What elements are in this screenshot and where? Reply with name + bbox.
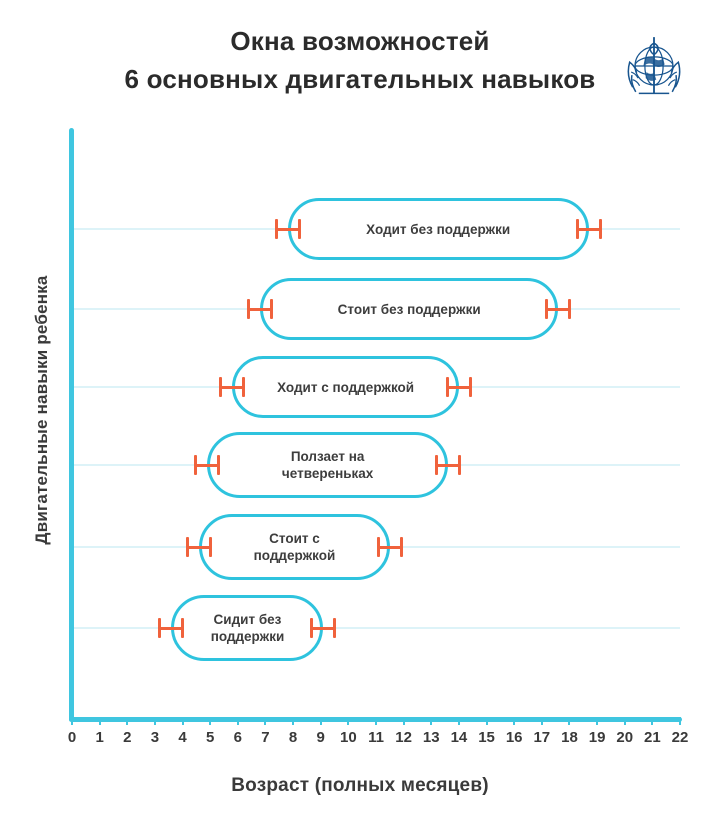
x-tick bbox=[182, 717, 184, 725]
marker-crossbar bbox=[248, 308, 272, 311]
page-title: Окна возможностей 6 основных двигательны… bbox=[0, 22, 720, 98]
marker-crossbar bbox=[447, 386, 471, 389]
page-title-line-2: 6 основных двигательных навыков bbox=[0, 60, 720, 98]
milestone-label: Ползает на четвереньках bbox=[272, 448, 383, 482]
x-tick bbox=[347, 717, 349, 725]
marker-crossbar bbox=[577, 228, 601, 231]
x-tick bbox=[320, 717, 322, 725]
marker-crossbar bbox=[276, 228, 300, 231]
marker-cap-right bbox=[599, 219, 602, 239]
x-tick bbox=[624, 717, 626, 725]
milestone-capsule[interactable]: Ходит с поддержкой bbox=[232, 356, 459, 418]
x-tick bbox=[651, 717, 653, 725]
x-tick bbox=[375, 717, 377, 725]
marker-crossbar bbox=[436, 464, 460, 467]
x-axis-ticks: 012345678910111213141516171819202122 bbox=[0, 717, 720, 757]
start-marker bbox=[247, 299, 273, 319]
x-tick-label: 4 bbox=[168, 729, 198, 746]
start-marker bbox=[275, 219, 301, 239]
start-marker bbox=[158, 618, 184, 638]
end-marker bbox=[310, 618, 336, 638]
x-tick-label: 6 bbox=[223, 729, 253, 746]
start-marker bbox=[194, 455, 220, 475]
end-marker bbox=[377, 537, 403, 557]
x-tick-label: 8 bbox=[278, 729, 308, 746]
chart-header: Окна возможностей 6 основных двигательны… bbox=[0, 0, 720, 120]
end-marker bbox=[446, 377, 472, 397]
marker-cap-right bbox=[298, 219, 301, 239]
x-tick-label: 9 bbox=[306, 729, 336, 746]
marker-crossbar bbox=[159, 627, 183, 630]
marker-crossbar bbox=[311, 627, 335, 630]
x-tick bbox=[430, 717, 432, 725]
end-marker bbox=[435, 455, 461, 475]
x-tick-label: 18 bbox=[554, 729, 584, 746]
marker-cap-right bbox=[400, 537, 403, 557]
marker-crossbar bbox=[187, 546, 211, 549]
x-tick-label: 22 bbox=[665, 729, 695, 746]
milestone-capsule[interactable]: Ползает на четвереньках bbox=[207, 432, 447, 498]
x-tick bbox=[126, 717, 128, 725]
end-marker bbox=[545, 299, 571, 319]
chart-area: Двигательные навыки ребенка Ходит без по… bbox=[0, 120, 720, 817]
x-tick bbox=[458, 717, 460, 725]
x-tick bbox=[264, 717, 266, 725]
marker-cap-right bbox=[242, 377, 245, 397]
x-tick bbox=[292, 717, 294, 725]
marker-crossbar bbox=[378, 546, 402, 549]
start-marker bbox=[219, 377, 245, 397]
milestone-label: Стоит без поддержки bbox=[328, 301, 491, 318]
x-tick bbox=[209, 717, 211, 725]
x-tick-label: 12 bbox=[389, 729, 419, 746]
x-tick bbox=[237, 717, 239, 725]
x-tick bbox=[486, 717, 488, 725]
x-tick-label: 15 bbox=[472, 729, 502, 746]
start-marker bbox=[186, 537, 212, 557]
x-tick-label: 0 bbox=[57, 729, 87, 746]
x-tick bbox=[71, 717, 73, 725]
x-tick-label: 21 bbox=[637, 729, 667, 746]
x-tick bbox=[596, 717, 598, 725]
marker-cap-right bbox=[469, 377, 472, 397]
x-tick-label: 5 bbox=[195, 729, 225, 746]
end-marker bbox=[576, 219, 602, 239]
marker-cap-right bbox=[270, 299, 273, 319]
x-tick bbox=[403, 717, 405, 725]
marker-cap-right bbox=[217, 455, 220, 475]
x-tick-label: 20 bbox=[610, 729, 640, 746]
milestone-capsule[interactable]: Сидит без поддержки bbox=[171, 595, 323, 661]
marker-crossbar bbox=[195, 464, 219, 467]
bar-series: Ходит без поддержкиСтоит без поддержкиХо… bbox=[0, 120, 720, 740]
milestone-capsule[interactable]: Ходит без поддержки bbox=[288, 198, 589, 260]
x-tick bbox=[154, 717, 156, 725]
x-tick-label: 3 bbox=[140, 729, 170, 746]
x-tick-label: 10 bbox=[333, 729, 363, 746]
marker-cap-right bbox=[209, 537, 212, 557]
marker-crossbar bbox=[546, 308, 570, 311]
x-axis-title: Возраст (полных месяцев) bbox=[0, 775, 720, 797]
x-tick-label: 14 bbox=[444, 729, 474, 746]
x-tick bbox=[568, 717, 570, 725]
x-tick-label: 19 bbox=[582, 729, 612, 746]
x-tick-label: 13 bbox=[416, 729, 446, 746]
x-tick-label: 11 bbox=[361, 729, 391, 746]
milestone-label: Стоит с поддержкой bbox=[244, 530, 346, 564]
x-tick-label: 16 bbox=[499, 729, 529, 746]
x-tick bbox=[99, 717, 101, 725]
x-tick-label: 2 bbox=[112, 729, 142, 746]
marker-cap-right bbox=[333, 618, 336, 638]
who-logo bbox=[616, 28, 692, 104]
x-tick-label: 17 bbox=[527, 729, 557, 746]
page-title-line-1: Окна возможностей bbox=[0, 22, 720, 60]
marker-cap-right bbox=[458, 455, 461, 475]
x-tick bbox=[513, 717, 515, 725]
x-tick-label: 1 bbox=[85, 729, 115, 746]
marker-cap-right bbox=[181, 618, 184, 638]
x-tick bbox=[679, 717, 681, 725]
marker-cap-right bbox=[568, 299, 571, 319]
milestone-label: Ходит с поддержкой bbox=[267, 379, 424, 396]
x-tick bbox=[541, 717, 543, 725]
milestone-label: Сидит без поддержки bbox=[201, 611, 295, 645]
milestone-label: Ходит без поддержки bbox=[356, 221, 520, 238]
milestone-capsule[interactable]: Стоит с поддержкой bbox=[199, 514, 390, 580]
milestone-capsule[interactable]: Стоит без поддержки bbox=[260, 278, 558, 340]
x-tick-label: 7 bbox=[250, 729, 280, 746]
marker-crossbar bbox=[220, 386, 244, 389]
